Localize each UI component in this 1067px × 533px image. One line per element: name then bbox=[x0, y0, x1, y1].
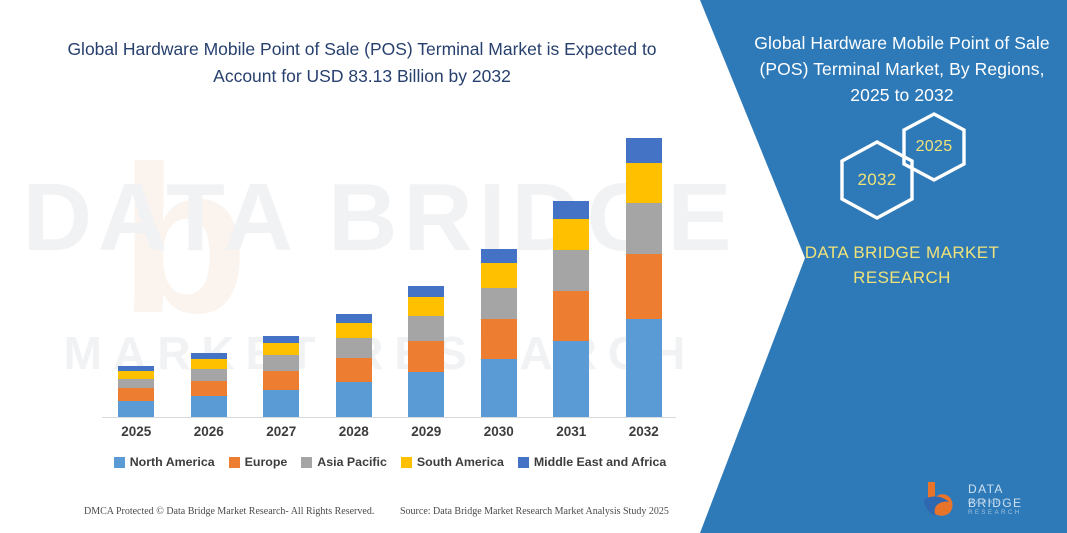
bar-segment bbox=[336, 338, 372, 358]
legend-swatch bbox=[229, 457, 240, 468]
infographic-canvas: b DATA BRIDGE MARKET RESEARCH Global Har… bbox=[0, 0, 1067, 533]
x-axis-label: 2028 bbox=[324, 424, 384, 439]
chart-legend: North AmericaEuropeAsia PacificSouth Ame… bbox=[100, 455, 680, 469]
brand-line-2: RESEARCH bbox=[752, 265, 1052, 290]
bar-segment bbox=[408, 286, 444, 297]
legend-item[interactable]: North America bbox=[114, 455, 215, 469]
bar-segment bbox=[553, 219, 589, 250]
x-axis-line bbox=[102, 417, 676, 418]
bar-segment bbox=[263, 390, 299, 418]
bar-column bbox=[263, 336, 299, 418]
legend-swatch bbox=[401, 457, 412, 468]
company-logo: DATA BRIDGE MARKET RESEARCH bbox=[922, 478, 1058, 518]
bar-column bbox=[336, 314, 372, 418]
footer: DMCA Protected © Data Bridge Market Rese… bbox=[0, 506, 700, 526]
bar-segment bbox=[336, 314, 372, 323]
brand-line-1: DATA BRIDGE MARKET bbox=[752, 240, 1052, 265]
bar-segment bbox=[626, 319, 662, 418]
hexagon-start-year: 2025 bbox=[898, 111, 970, 183]
bar-segment bbox=[626, 138, 662, 163]
bar-segment bbox=[553, 341, 589, 418]
bar-column bbox=[481, 249, 517, 418]
legend-label: Asia Pacific bbox=[317, 455, 387, 469]
brand-block: DATA BRIDGE MARKET RESEARCH bbox=[752, 240, 1052, 290]
x-axis-label: 2029 bbox=[396, 424, 456, 439]
bar-column bbox=[626, 138, 662, 418]
legend-swatch bbox=[518, 457, 529, 468]
bar-segment bbox=[336, 323, 372, 338]
legend-item[interactable]: South America bbox=[401, 455, 504, 469]
bar-segment bbox=[263, 355, 299, 370]
bar-segment bbox=[626, 254, 662, 319]
bar-segment bbox=[481, 319, 517, 358]
bar-segment bbox=[408, 316, 444, 341]
hexagon-start-year-label: 2025 bbox=[898, 111, 970, 183]
bar-segment bbox=[481, 249, 517, 263]
x-axis-label: 2026 bbox=[179, 424, 239, 439]
bar-column bbox=[191, 353, 227, 418]
legend-item[interactable]: Middle East and Africa bbox=[518, 455, 666, 469]
footer-copyright: DMCA Protected © Data Bridge Market Rese… bbox=[84, 506, 374, 517]
x-axis-labels: 20252026202720282029203020312032 bbox=[100, 424, 680, 446]
x-axis-label: 2031 bbox=[541, 424, 601, 439]
legend-label: North America bbox=[130, 455, 215, 469]
company-logo-mark bbox=[922, 478, 964, 518]
bar-segment bbox=[408, 341, 444, 372]
bar-segment bbox=[118, 371, 154, 379]
x-axis-label: 2032 bbox=[614, 424, 674, 439]
bar-segment bbox=[553, 291, 589, 342]
bar-segment bbox=[553, 250, 589, 290]
chart-title: Global Hardware Mobile Point of Sale (PO… bbox=[62, 36, 662, 90]
bar-segment bbox=[336, 358, 372, 382]
bar-segment bbox=[481, 288, 517, 320]
bar-segment bbox=[191, 359, 227, 369]
bar-segment bbox=[191, 369, 227, 381]
bar-segment bbox=[626, 163, 662, 203]
legend-label: South America bbox=[417, 455, 504, 469]
x-axis-label: 2027 bbox=[251, 424, 311, 439]
company-logo-tagline: MARKET RESEARCH bbox=[968, 498, 1058, 518]
legend-label: Europe bbox=[245, 455, 288, 469]
bar-segment bbox=[118, 401, 154, 419]
bar-column bbox=[553, 201, 589, 418]
bar-segment bbox=[626, 203, 662, 255]
bar-segment bbox=[263, 343, 299, 355]
panel-heading: Global Hardware Mobile Point of Sale (PO… bbox=[752, 30, 1052, 108]
footer-source: Source: Data Bridge Market Research Mark… bbox=[400, 506, 669, 517]
bar-segment bbox=[336, 382, 372, 418]
bar-segment bbox=[553, 201, 589, 219]
legend-swatch bbox=[114, 457, 125, 468]
bar-segment bbox=[408, 297, 444, 316]
bar-segment bbox=[191, 381, 227, 396]
bar-segment bbox=[263, 336, 299, 343]
x-axis-label: 2030 bbox=[469, 424, 529, 439]
stacked-bar-chart bbox=[100, 120, 680, 418]
bar-column bbox=[408, 286, 444, 418]
bar-column bbox=[118, 366, 154, 418]
legend-item[interactable]: Europe bbox=[229, 455, 288, 469]
bar-segment bbox=[408, 372, 444, 418]
legend-label: Middle East and Africa bbox=[534, 455, 666, 469]
legend-swatch bbox=[301, 457, 312, 468]
legend-item[interactable]: Asia Pacific bbox=[301, 455, 387, 469]
bar-segment bbox=[481, 359, 517, 418]
bar-segment bbox=[118, 388, 154, 400]
bar-segment bbox=[118, 379, 154, 389]
bar-segment bbox=[481, 263, 517, 288]
x-axis-label: 2025 bbox=[106, 424, 166, 439]
bar-segment bbox=[263, 371, 299, 390]
bar-segment bbox=[191, 396, 227, 418]
